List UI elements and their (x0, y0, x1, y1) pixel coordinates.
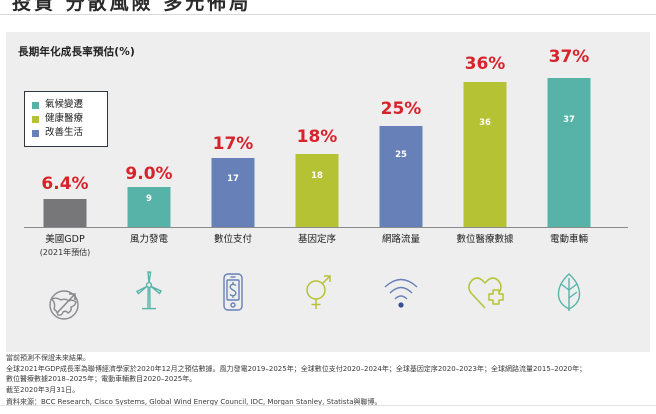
leaf-icon (545, 268, 593, 316)
bar-inner-label: 18 (311, 171, 323, 181)
x-axis-label-text: 基因定序 (298, 234, 336, 245)
footnote-line-1: 當前預測不保證未來結果。 (6, 353, 650, 364)
bar-group-0: 6.4% 美國GDP (2021年預估) (22, 32, 108, 352)
bar-5: 36 (464, 82, 507, 227)
bar-inner-label: 37 (563, 115, 575, 125)
x-axis-label-3: 基因定序 (274, 233, 360, 246)
bar-value-label: 18% (297, 127, 338, 147)
x-axis-label-1: 風力發電 (106, 233, 192, 246)
x-axis-label-text: 數位醫療數據 (456, 234, 513, 245)
bar-value-label: 25% (381, 99, 422, 119)
bar-4: 25 (380, 126, 423, 227)
bar-group-3: 18% 18 基因定序 (274, 32, 360, 352)
x-axis-label-text: 風力發電 (130, 234, 168, 245)
x-axis-label-text: 美國GDP (45, 234, 84, 245)
screenshot-root: 投資 分散風險 多元佈局 長期年化成長率預估(%) 氣候變遷 健康醫療 改善生活 (0, 0, 656, 414)
bar-2: 17 (212, 158, 255, 227)
chart-card: 長期年化成長率預估(%) 氣候變遷 健康醫療 改善生活 6.4% (6, 32, 650, 352)
bar-group-2: 17% 17 數位支付 (190, 32, 276, 352)
bar-inner-label: 36 (479, 118, 491, 128)
bar-value-label: 6.4% (41, 174, 88, 194)
bar-0 (44, 199, 87, 227)
x-axis-label-text: 數位支付 (214, 234, 252, 245)
x-axis-label-5: 數位醫療數據 (442, 233, 528, 246)
footnotes: 當前預測不保證未來結果。 全球2021年GDP成長率為聯博經濟學家於2020年1… (6, 353, 650, 408)
bar-3: 18 (296, 154, 339, 227)
bar-value-label: 37% (549, 47, 590, 67)
bar-inner-label: 9 (146, 194, 152, 204)
header-divider (0, 14, 656, 15)
footnote-line-4: 截至2020年3月31日。 (6, 385, 650, 396)
x-axis-label-text: 網路流量 (382, 234, 420, 245)
bar-1: 9 (128, 187, 171, 227)
heart-medical-icon (461, 268, 509, 316)
footnote-line-2: 全球2021年GDP成長率為聯博經濟學家於2020年12月之預估數據。風力發電2… (6, 364, 650, 375)
footer-divider (0, 405, 656, 406)
bar-group-1: 9.0% 9 風力發電 (106, 32, 192, 352)
bar-group-5: 36% 36 數位醫療數據 (442, 32, 528, 352)
bar-6: 37 (548, 78, 591, 227)
bar-value-label: 9.0% (125, 164, 172, 184)
bar-inner-label: 25 (395, 150, 407, 160)
bar-group-4: 25% 25 網路流量 (358, 32, 444, 352)
bar-inner-label: 17 (227, 174, 239, 184)
x-axis-sublabel-text: (2021年預估) (22, 246, 108, 259)
wifi-icon (377, 268, 425, 316)
wind-turbine-icon (125, 268, 173, 316)
mobile-payment-icon (209, 268, 257, 316)
x-axis-label-6: 電動車輛 (526, 233, 612, 246)
x-axis-label-4: 網路流量 (358, 233, 444, 246)
x-axis-label-0: 美國GDP (2021年預估) (22, 233, 108, 259)
x-axis-label-text: 電動車輛 (550, 234, 588, 245)
globe-icon (41, 280, 89, 328)
bar-value-label: 36% (465, 54, 506, 74)
bar-value-label: 17% (213, 134, 254, 154)
plot-area: 6.4% 美國GDP (2021年預估) (6, 32, 650, 352)
footnote-line-3: 數位醫療數據2018–2025年；電動車輛數目2020–2025年。 (6, 374, 650, 385)
page-header-crop: 投資 分散風險 多元佈局 (0, 0, 656, 14)
bar-group-6: 37% 37 電動車輛 (526, 32, 612, 352)
page-header-title: 投資 分散風險 多元佈局 (12, 0, 251, 14)
x-axis-label-2: 數位支付 (190, 233, 276, 246)
gender-symbols-icon (293, 268, 341, 316)
